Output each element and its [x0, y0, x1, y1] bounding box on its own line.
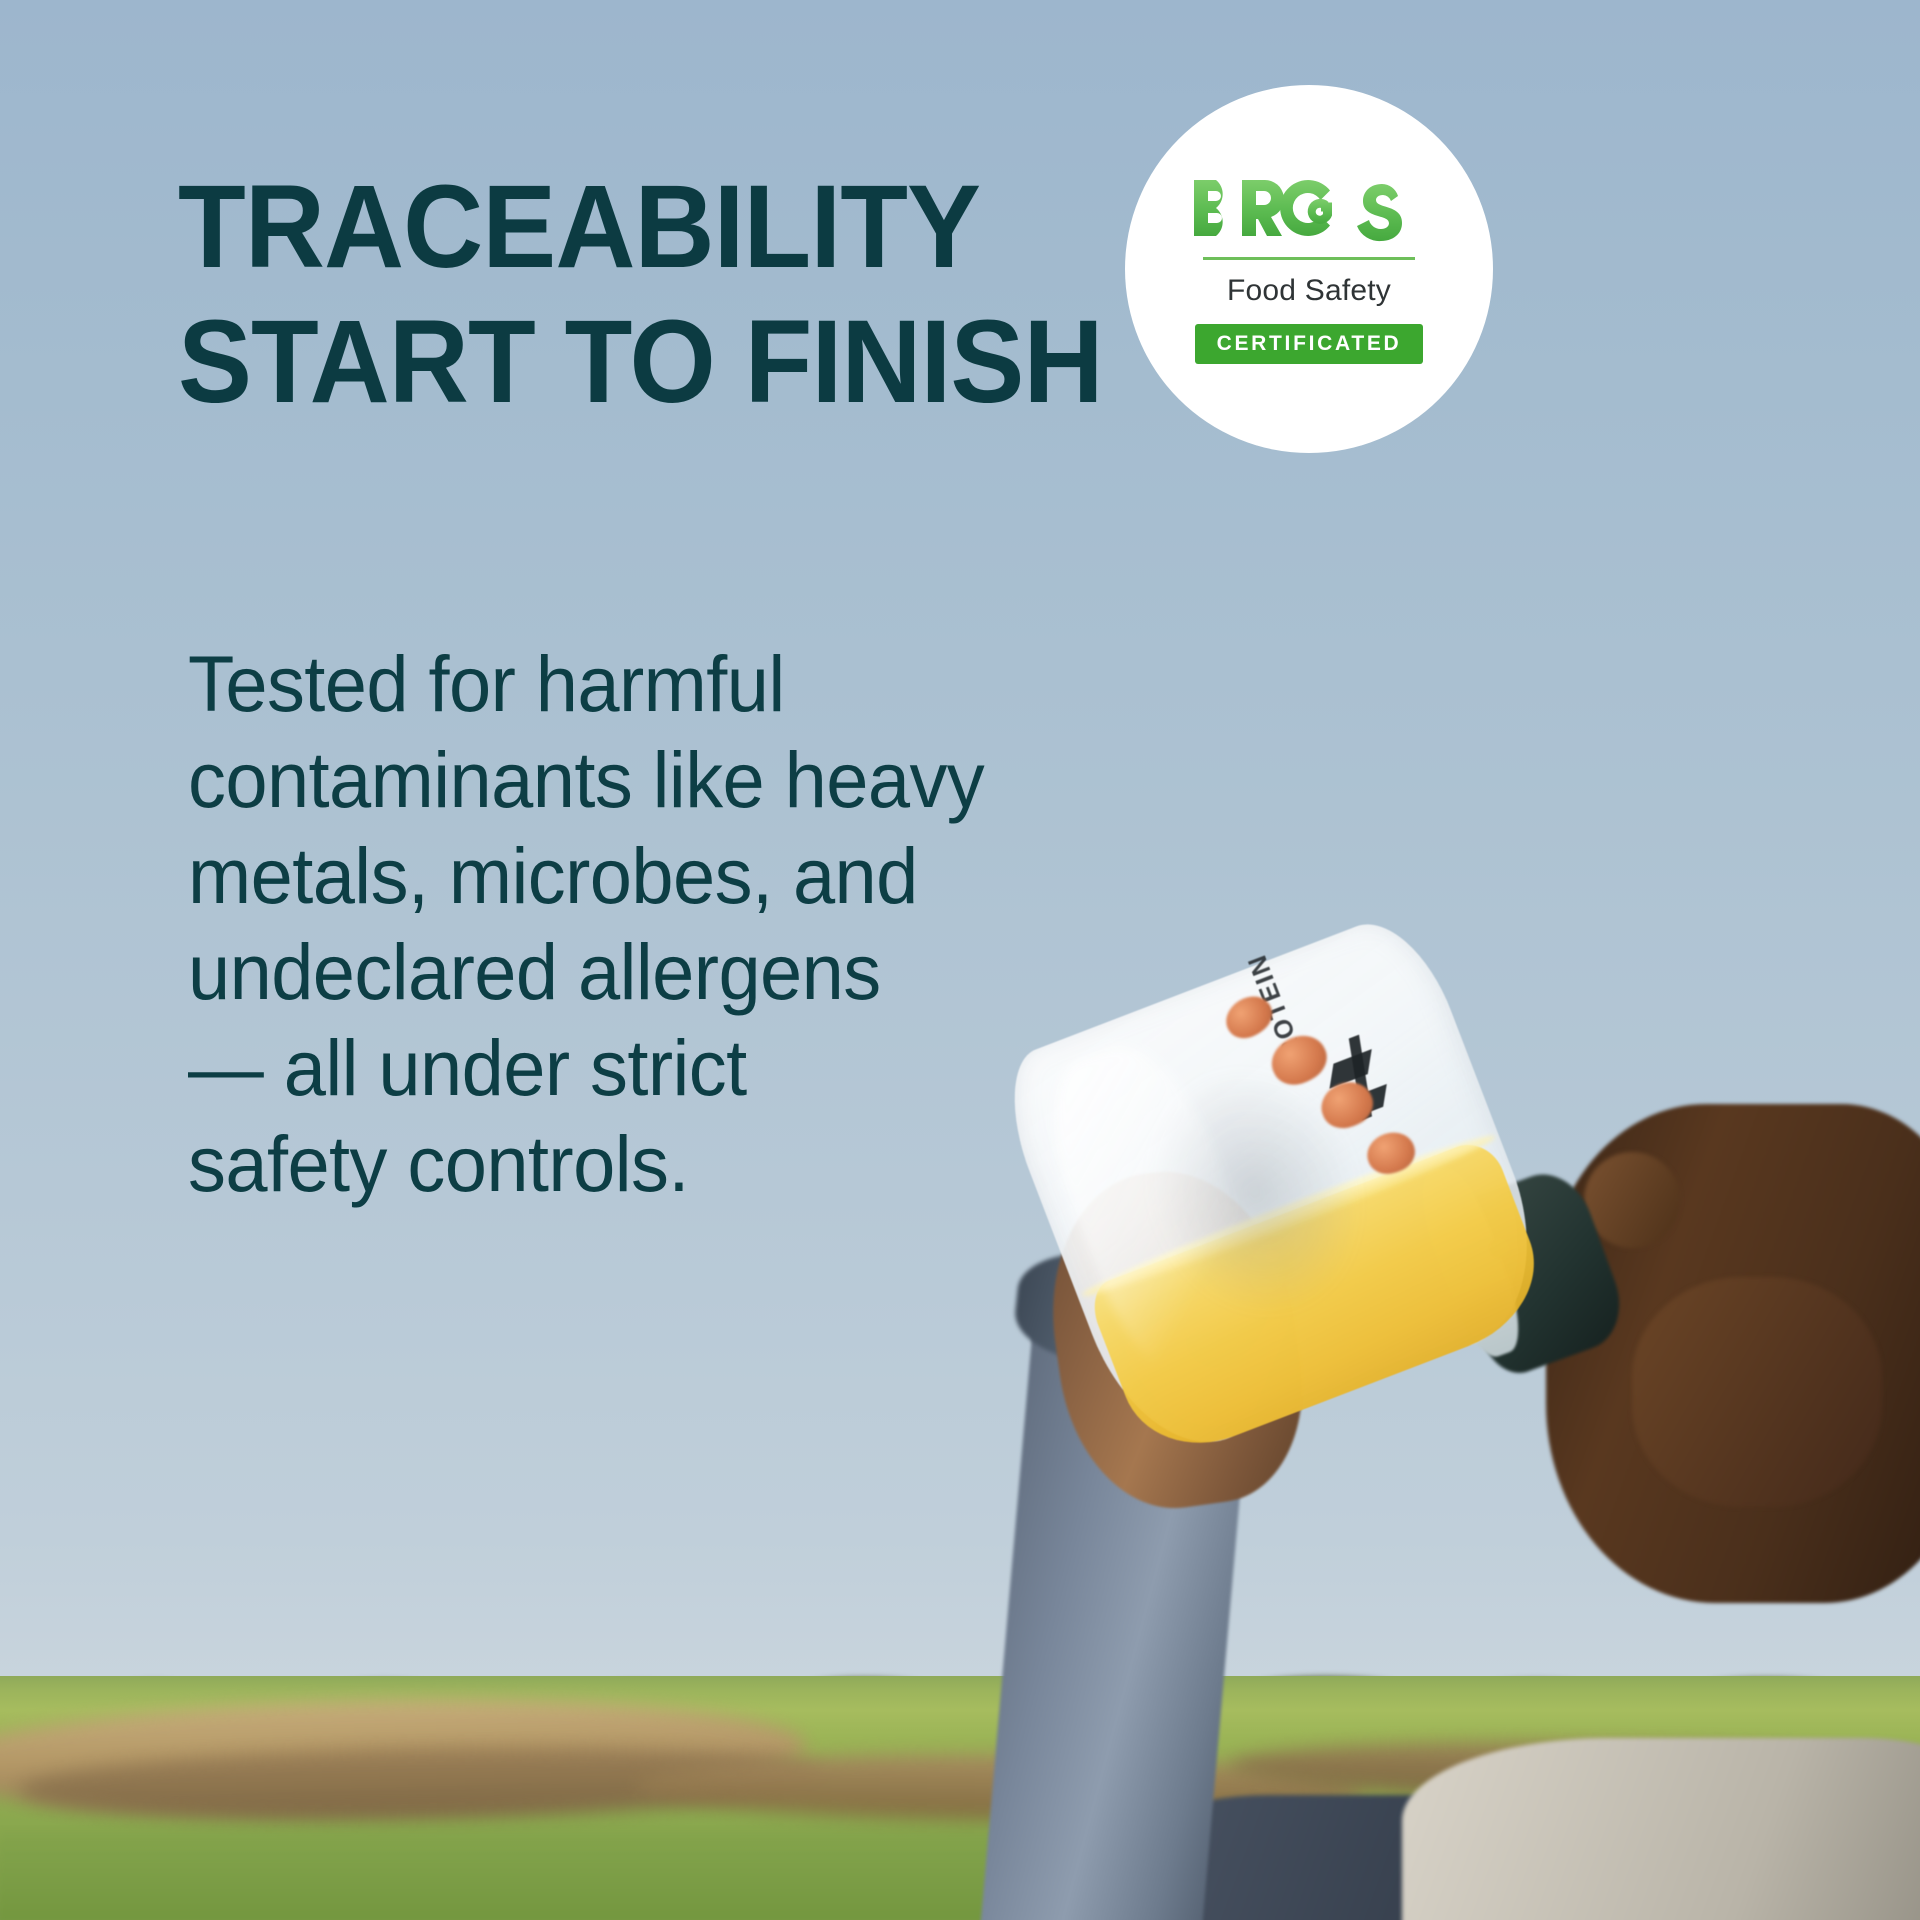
headline-line-2: START TO FINISH — [178, 295, 1118, 430]
chin — [1632, 1277, 1882, 1507]
body-copy: Tested for harmful contaminants like hea… — [188, 636, 1108, 1212]
nose — [1584, 1152, 1680, 1248]
badge-bar-label: CERTIFICATED — [1217, 332, 1402, 356]
page-title: TRACEABILITY START TO FINISH — [178, 160, 1178, 429]
body-line-6: safety controls. — [188, 1116, 1071, 1212]
brcgs-logo — [1190, 174, 1428, 246]
body-line-1: Tested for harmful — [188, 636, 1071, 732]
body-line-4: undeclared allergens — [188, 924, 1071, 1020]
headline-line-1: TRACEABILITY — [178, 160, 1118, 295]
body-line-5: — all under strict — [188, 1020, 1071, 1116]
body-line-2: contaminants like heavy — [188, 732, 1071, 828]
brcgs-certification-badge: Food Safety CERTIFICATED — [1125, 85, 1493, 453]
shoulder — [1402, 1738, 1920, 1920]
body-line-3: metals, microbes, and — [188, 828, 1071, 924]
badge-certificated-bar: CERTIFICATED — [1195, 324, 1423, 364]
badge-subtitle: Food Safety — [1227, 274, 1391, 308]
badge-divider — [1203, 257, 1415, 260]
